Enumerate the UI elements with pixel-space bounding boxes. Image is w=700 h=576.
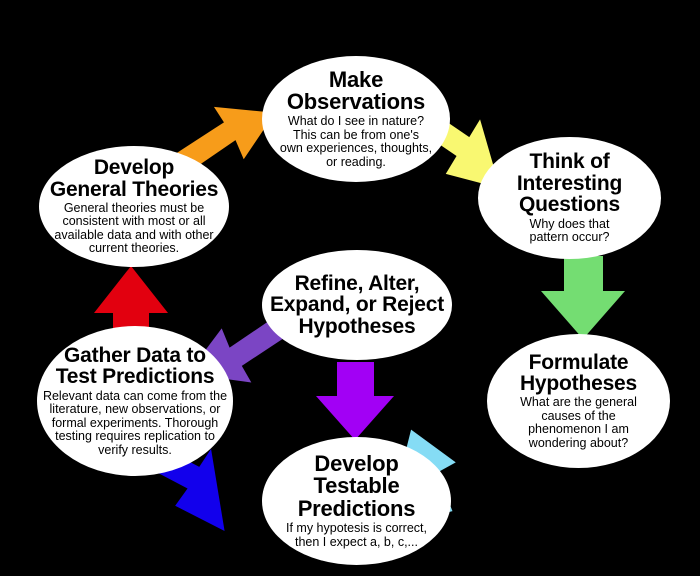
node-title: Make Observations <box>287 69 425 114</box>
node-refine-alter-expand-or-reject-hypotheses[interactable]: Refine, Alter, Expand, or Reject Hypothe… <box>262 250 452 360</box>
node-title: Develop Testable Predictions <box>298 453 416 520</box>
node-body: If my hypotesis is correct, then I expec… <box>286 522 427 549</box>
node-gather-data-to-test-predictions[interactable]: Gather Data to Test Predictions Relevant… <box>37 326 233 476</box>
node-make-observations[interactable]: Make Observations What do I see in natur… <box>262 56 450 182</box>
node-body: Why does that pattern occur? <box>530 218 610 245</box>
node-body: Relevant data can come from the literatu… <box>43 390 227 458</box>
node-body: General theories must be consistent with… <box>54 202 213 256</box>
node-title: Formulate Hypotheses <box>520 352 637 395</box>
node-develop-general-theories[interactable]: Develop General Theories General theorie… <box>39 146 229 267</box>
node-title: Refine, Alter, Expand, or Reject Hypothe… <box>270 273 444 337</box>
arrow-refine-to-predictions-icon <box>316 362 394 440</box>
node-title: Develop General Theories <box>50 157 218 200</box>
node-develop-testable-predictions[interactable]: Develop Testable Predictions If my hypot… <box>262 437 451 565</box>
node-title: Gather Data to Test Predictions <box>56 345 215 388</box>
node-formulate-hypotheses[interactable]: Formulate Hypotheses What are the genera… <box>487 334 670 468</box>
node-think-of-interesting-questions[interactable]: Think of Interesting Questions Why does … <box>478 137 661 259</box>
node-title: Think of Interesting Questions <box>517 151 622 215</box>
arrow-questions-to-hypotheses-icon <box>541 256 625 339</box>
node-body: What do I see in nature? This can be fro… <box>280 115 432 169</box>
node-body: What are the general causes of the pheno… <box>520 396 637 450</box>
scientific-method-diagram: Make Observations What do I see in natur… <box>0 0 700 576</box>
